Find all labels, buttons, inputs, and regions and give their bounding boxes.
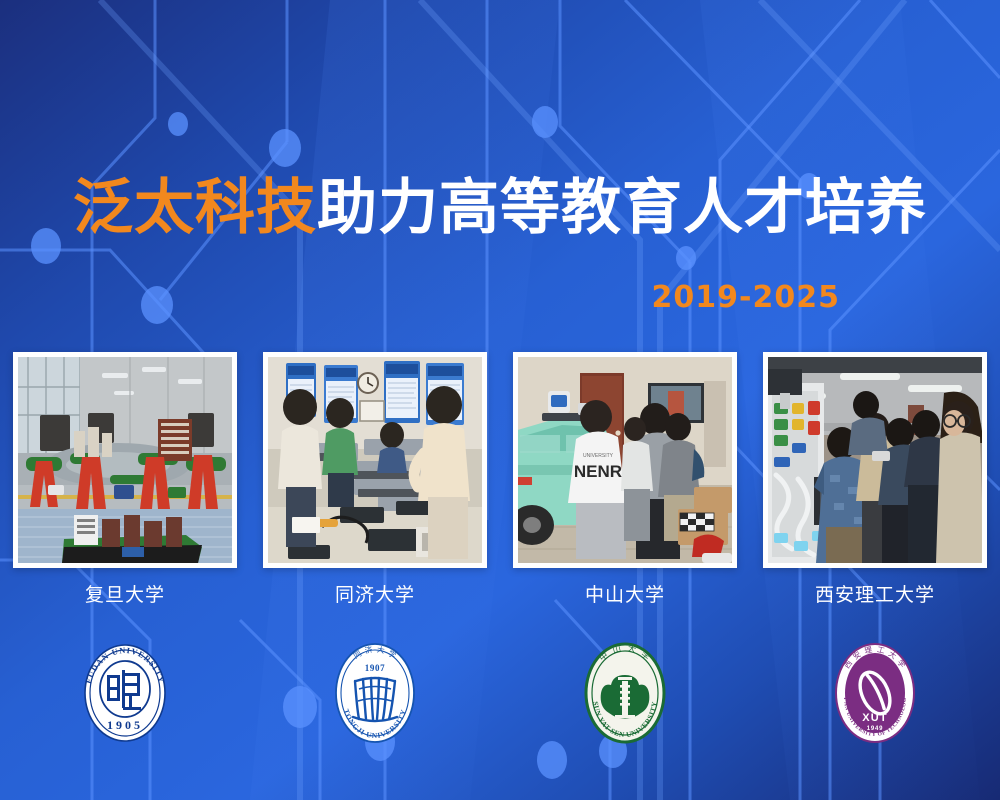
svg-text:1905: 1905 xyxy=(107,718,143,732)
photo-card-tongji xyxy=(263,352,487,568)
caption-row: 复旦大学 同济大学 中山大学 西安理工大学 xyxy=(13,582,987,610)
year-range-label: 2019-2025 xyxy=(652,280,840,315)
title-brand: 泛太科技 xyxy=(73,173,317,243)
page-title: 泛太科技助力高等教育人才培养 xyxy=(0,176,1000,240)
fudan-university-logo: FUDAN UNIVERSITY xyxy=(77,637,173,749)
photo-card-xut xyxy=(763,352,987,568)
svg-text:NENR: NENR xyxy=(574,462,622,481)
photo-card-fudan xyxy=(13,352,237,568)
sun-yat-sen-university-logo: 中 山 大 学 SUN YAT-SEN UNIVERSITY xyxy=(577,637,673,749)
title-rest: 助力高等教育人才培养 xyxy=(317,173,927,243)
poster-canvas: 泛太科技助力高等教育人才培养 2019-2025 xyxy=(0,0,1000,800)
logo-cell-tongji: 同 济 大 学 TONGJI UNIVERSITY 1907 xyxy=(263,630,487,755)
photo-gallery: NENR UNIVERSITY xyxy=(13,352,987,568)
photo-sysu-autonomous-vehicle-lab: NENR UNIVERSITY xyxy=(518,357,732,563)
logo-cell-xut: 西 安 理 工 大 学 XI'AN UNIVERSITY OF TECHNOLO… xyxy=(763,630,987,755)
logo-cell-fudan: FUDAN UNIVERSITY xyxy=(13,630,237,755)
caption-sysu: 中山大学 xyxy=(513,582,737,610)
caption-xut: 西安理工大学 xyxy=(763,582,987,610)
svg-text:XUT: XUT xyxy=(862,712,888,724)
xian-university-of-technology-logo: 西 安 理 工 大 学 XI'AN UNIVERSITY OF TECHNOLO… xyxy=(827,637,923,749)
photo-xut-automation-equipment-lab xyxy=(768,357,982,563)
tongji-university-logo: 同 济 大 学 TONGJI UNIVERSITY 1907 xyxy=(327,637,423,749)
svg-text:1949: 1949 xyxy=(867,726,884,732)
svg-text:1907: 1907 xyxy=(365,663,385,673)
photo-card-sysu: NENR UNIVERSITY xyxy=(513,352,737,568)
logo-row: FUDAN UNIVERSITY xyxy=(13,630,987,755)
caption-tongji: 同济大学 xyxy=(263,582,487,610)
caption-fudan: 复旦大学 xyxy=(13,582,237,610)
photo-tongji-equipment-bench-lab xyxy=(268,357,482,563)
photo-fudan-port-scale-model-lab xyxy=(18,357,232,563)
svg-text:UNIVERSITY: UNIVERSITY xyxy=(583,453,614,459)
logo-cell-sysu: 中 山 大 学 SUN YAT-SEN UNIVERSITY xyxy=(513,630,737,755)
